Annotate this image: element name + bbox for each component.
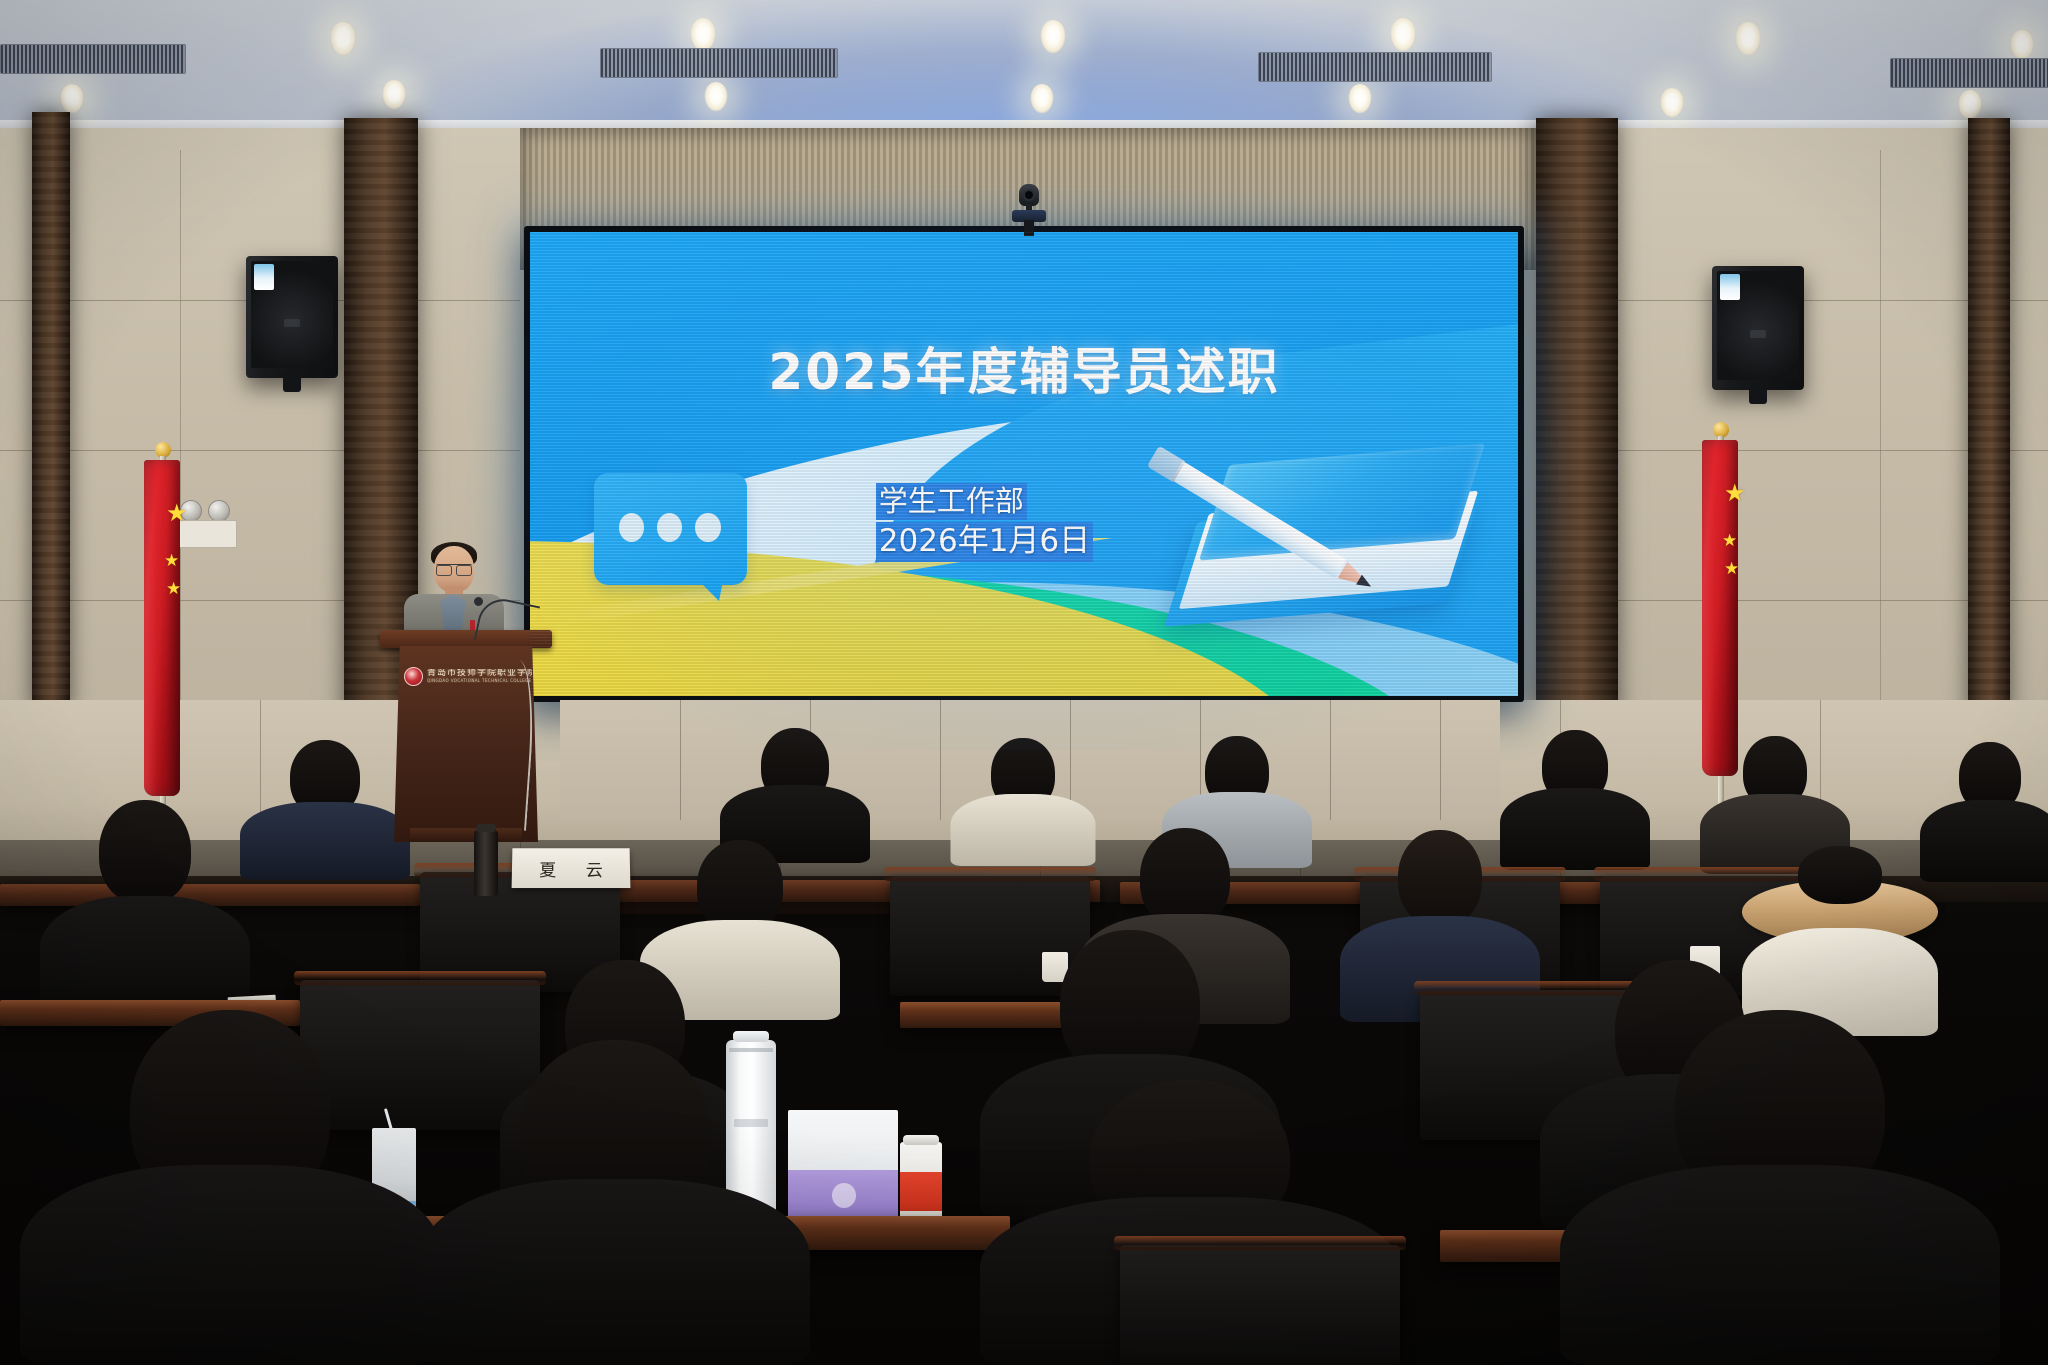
ceiling-downlight <box>382 80 406 110</box>
speaker-brand-badge <box>254 264 274 290</box>
slide-subtitle-date: 2026年1月6日 <box>876 522 1093 562</box>
person-coat <box>1560 1165 2000 1365</box>
thermos-lid <box>476 824 496 832</box>
wall-seam <box>1880 150 1881 710</box>
gooseneck-microphone-icon <box>478 600 538 660</box>
ceiling-downlight <box>1348 84 1372 114</box>
audience-person <box>950 738 1095 866</box>
flag-star-icon: ★ <box>1724 560 1739 577</box>
ceiling-downlight <box>1958 90 1982 120</box>
wall-knob-icon <box>208 500 230 522</box>
wall-speaker-right <box>1712 266 1804 390</box>
speaker-logo-icon <box>1750 330 1766 338</box>
stage-panel-seam <box>680 700 681 820</box>
bubble-dot-icon <box>695 513 720 542</box>
audience-chair[interactable] <box>1120 1245 1400 1365</box>
person-head <box>99 800 191 904</box>
person-coat <box>20 1165 440 1365</box>
conference-hall-photo: ★ ★ ★ ★ ★ ★ <box>0 0 2048 1365</box>
flag-star-icon: ★ <box>1724 482 1746 506</box>
speaker-mount-bracket <box>283 374 301 392</box>
stage-panel-seam <box>1440 700 1441 820</box>
stage-panel-seam <box>1330 700 1331 820</box>
mic-capsule <box>474 597 483 606</box>
flag-star-icon: ★ <box>166 580 181 597</box>
speech-bubble-icon <box>594 473 747 584</box>
slide-canvas: 2025年度辅导员述职 学生工作部 2026年1月6日 <box>530 232 1518 696</box>
ceiling <box>0 0 2048 128</box>
name-placard-text: 夏 云 <box>527 856 615 881</box>
slide-title: 2025年度辅导员述职 <box>530 332 1518 404</box>
person-head <box>1398 830 1482 926</box>
flag-star-icon: ★ <box>1722 532 1737 549</box>
wall-speaker-left <box>246 256 338 378</box>
ceiling-downlight <box>60 84 84 114</box>
audience-person <box>420 1040 810 1365</box>
camera-lens-icon <box>1025 191 1033 199</box>
wall-pillar-right <box>1536 118 1618 718</box>
glasses-icon <box>436 564 472 574</box>
ceiling-downlight <box>330 22 356 56</box>
stage-panel-seam <box>940 700 941 820</box>
person-coat <box>240 802 410 880</box>
person-head <box>1798 846 1882 904</box>
ceiling-downlight <box>690 18 716 52</box>
bubble-dot-icon <box>657 513 682 542</box>
audience-person <box>20 1010 440 1365</box>
audience-person <box>240 740 410 880</box>
person-head <box>1140 828 1230 928</box>
speaker-mount-bracket <box>1749 386 1767 404</box>
ceiling-downlight <box>1390 18 1416 52</box>
wall-pillar-left-outer <box>32 112 70 712</box>
person-coat <box>420 1179 810 1365</box>
speaker-logo-icon <box>284 319 300 327</box>
slide-subtitle-block: 学生工作部 2026年1月6日 <box>876 483 1093 564</box>
chair-top-rail <box>1114 1236 1406 1250</box>
yogurt-label-band <box>900 1172 942 1211</box>
wall-pillar-right-outer <box>1968 118 2010 718</box>
audience-person <box>40 800 250 1020</box>
ceiling-downlight <box>1030 84 1054 114</box>
flag-cloth: ★ ★ ★ <box>144 460 180 796</box>
ceiling-downlight <box>1735 22 1761 56</box>
video-conference-camera-icon <box>1012 184 1046 234</box>
camera-mount-stalk <box>1024 220 1034 236</box>
hvac-vent <box>1258 52 1492 82</box>
hvac-vent <box>1890 58 2048 88</box>
bubble-dot-icon <box>619 513 644 542</box>
flag-cloth: ★ ★ ★ <box>1702 440 1738 776</box>
mic-arm <box>474 594 540 651</box>
audience-person <box>1560 1010 2000 1365</box>
chair-top-rail <box>884 867 1096 881</box>
led-display-screen[interactable]: 2025年度辅导员述职 学生工作部 2026年1月6日 <box>524 226 1524 702</box>
flag-star-icon: ★ <box>164 552 179 569</box>
podium-base <box>410 828 522 842</box>
wall-seam <box>0 450 520 451</box>
name-placard: 夏 云 <box>512 848 631 888</box>
flag-star-icon: ★ <box>166 502 188 526</box>
speaker-brand-badge <box>1720 274 1740 300</box>
ceiling-downlight <box>1660 88 1684 118</box>
school-crest-icon <box>404 667 423 686</box>
hvac-vent <box>0 44 186 74</box>
head-table-thermos <box>474 830 498 896</box>
person-coat <box>950 794 1095 866</box>
hvac-vent <box>600 48 838 78</box>
slide-subtitle-org: 学生工作部 <box>876 483 1027 520</box>
national-flag-left: ★ ★ ★ <box>130 442 200 842</box>
ceiling-downlight <box>1040 20 1066 54</box>
book-and-pencil-graphic <box>1172 436 1498 654</box>
ceiling-downlight <box>704 82 728 112</box>
yogurt-cap <box>903 1135 940 1145</box>
ceiling-downlight <box>2010 30 2034 60</box>
